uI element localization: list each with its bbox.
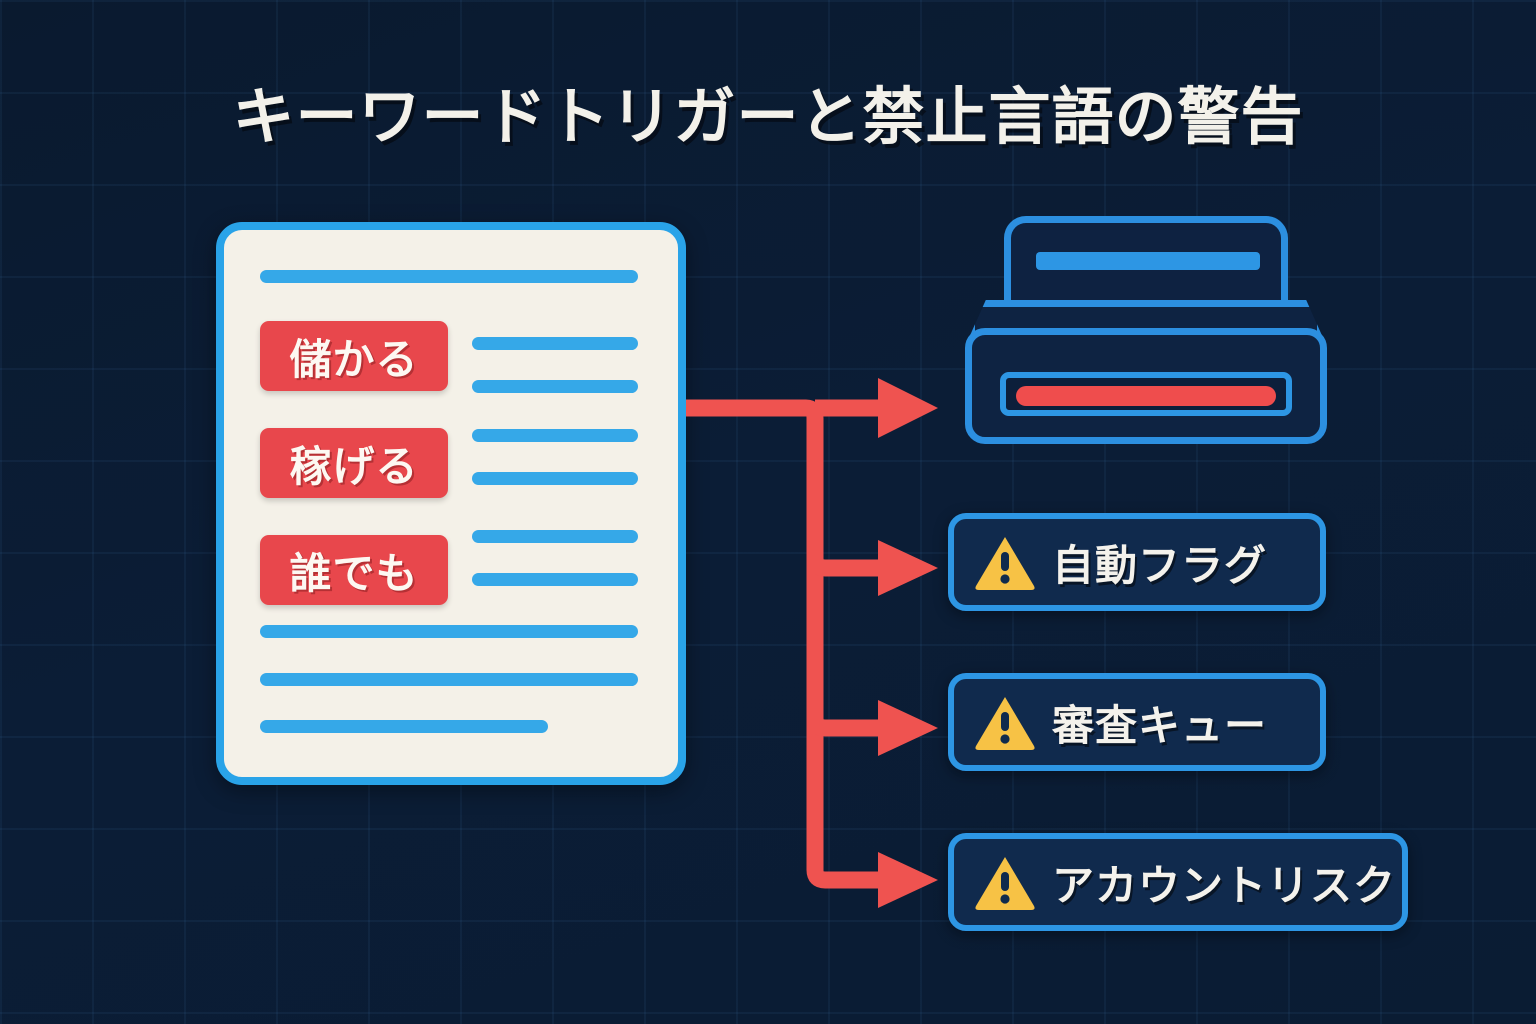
- flagged-keyword-badge[interactable]: 誰でも: [260, 535, 448, 605]
- page-title: キーワードトリガーと禁止言語の警告: [0, 66, 1536, 156]
- doc-text-line: [260, 720, 548, 733]
- doc-text-line: [260, 625, 638, 638]
- outcome-label: アカウントリスク: [1052, 852, 1396, 913]
- keyword-scanner-device: [960, 216, 1332, 446]
- doc-text-line: [472, 573, 638, 586]
- doc-text-line: [472, 530, 638, 543]
- outcome-account-risk[interactable]: アカウントリスク: [948, 833, 1408, 931]
- outcome-label: 自動フラグ: [1052, 532, 1267, 593]
- doc-text-line: [472, 429, 638, 442]
- outcome-review-queue[interactable]: 審査キュー: [948, 673, 1326, 771]
- flagged-keyword-badge[interactable]: 儲かる: [260, 321, 448, 391]
- ad-document-card: 儲かる 稼げる 誰でも: [216, 222, 686, 785]
- doc-text-line: [472, 337, 638, 350]
- scanner-indicator-bar: [1036, 252, 1260, 270]
- doc-text-line: [260, 270, 638, 283]
- warning-triangle-icon: [974, 694, 1036, 750]
- doc-text-line: [472, 472, 638, 485]
- outcome-label: 審査キュー: [1052, 692, 1267, 753]
- arrowhead: [878, 378, 938, 908]
- outcome-auto-flag[interactable]: 自動フラグ: [948, 513, 1326, 611]
- doc-text-line: [472, 380, 638, 393]
- flagged-keyword-badge[interactable]: 稼げる: [260, 428, 448, 498]
- infographic-canvas: キーワードトリガーと禁止言語の警告 儲かる 稼げる 誰でも: [0, 0, 1536, 1024]
- scanner-alert-bar: [1016, 386, 1276, 406]
- doc-text-line: [260, 673, 638, 686]
- warning-triangle-icon: [974, 534, 1036, 590]
- warning-triangle-icon: [974, 854, 1036, 910]
